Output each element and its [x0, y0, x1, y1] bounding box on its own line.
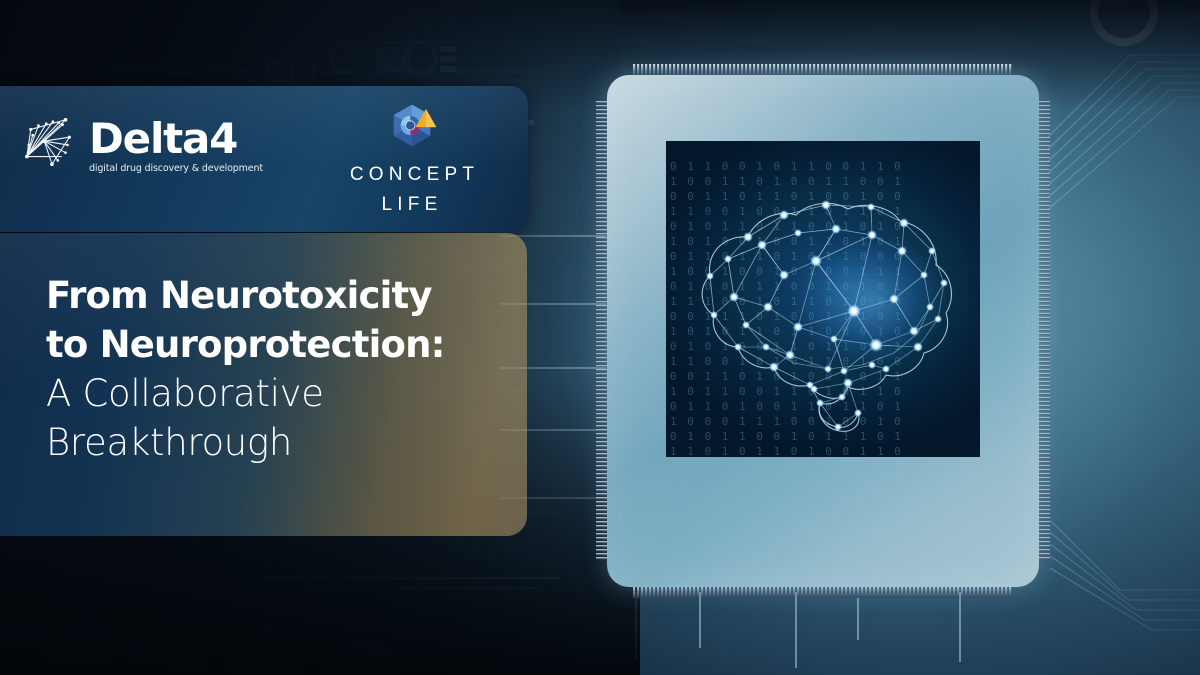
title-line-3: A Collaborative [46, 369, 516, 418]
concept-life-sciences-logo[interactable]: CONCEPT LIFE SCIENCES [332, 102, 492, 232]
concept-life-sciences-hexagon-logomark [384, 102, 440, 154]
microprocessor-chip: 0 1 1 0 0 1 0 1 1 0 0 1 1 0 1 0 0 1 1 0 … [607, 75, 1039, 587]
title-line-2: to Neuroprotection: [46, 320, 516, 369]
delta4-wordmark: Delta4 [89, 118, 263, 160]
delta4-fan-network-logomark [23, 114, 81, 172]
page-title: From Neurotoxicity to Neuroprotection: A… [46, 271, 516, 467]
cls-wordmark-line2: SCIENCES [332, 226, 492, 232]
title-line-4: Breakthrough [46, 418, 516, 467]
delta4-tagline: digital drug discovery & development [89, 163, 263, 174]
cls-wordmark-line1: CONCEPT LIFE [332, 160, 492, 220]
title-line-1: From Neurotoxicity [46, 271, 516, 320]
promo-banner: 0 1 1 0 0 1 0 1 1 0 0 1 1 0 1 0 0 1 1 0 … [0, 0, 1200, 675]
logo-panel: Delta4 digital drug discovery & developm… [0, 86, 528, 232]
delta4-logo[interactable]: Delta4 digital drug discovery & developm… [23, 114, 263, 172]
neural-network-brain-illustration [666, 141, 980, 457]
chip-die-window: 0 1 1 0 0 1 0 1 1 0 0 1 1 0 1 0 0 1 1 0 … [666, 141, 980, 457]
title-panel: From Neurotoxicity to Neuroprotection: A… [0, 233, 527, 536]
